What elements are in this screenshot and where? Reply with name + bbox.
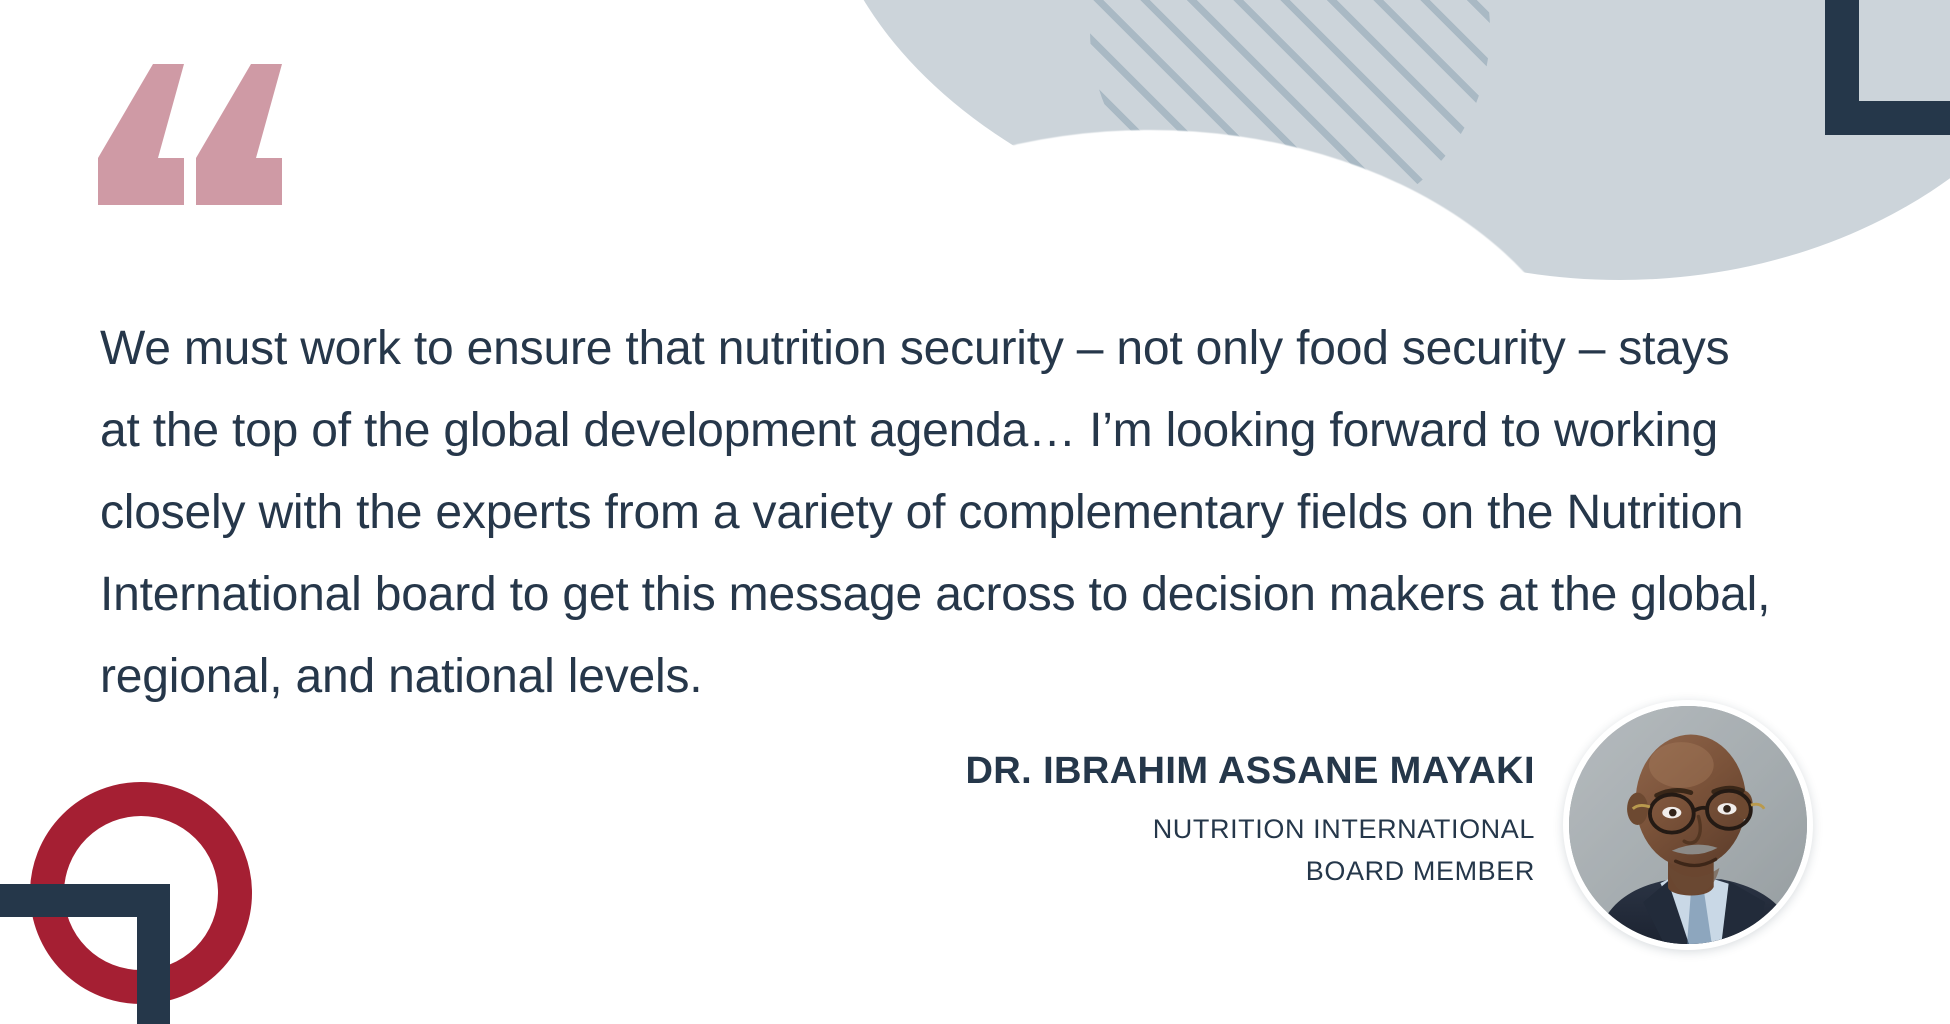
attribution-name: DR. IBRAHIM ASSANE MAYAKI xyxy=(635,748,1535,794)
quote-text: We must work to ensure that nutrition se… xyxy=(100,308,1860,718)
quote-line: at the top of the global development age… xyxy=(100,390,1860,472)
quote-line: We must work to ensure that nutrition se… xyxy=(100,308,1860,390)
quote-line: closely with the experts from a variety … xyxy=(100,472,1860,554)
slide-content: We must work to ensure that nutrition se… xyxy=(0,0,1950,1024)
attribution-organization: NUTRITION INTERNATIONAL xyxy=(635,808,1535,850)
open-quote-icon xyxy=(96,62,286,207)
avatar xyxy=(1563,700,1813,950)
quote-slide: We must work to ensure that nutrition se… xyxy=(0,0,1950,1024)
quote-line: regional, and national levels. xyxy=(100,636,1860,718)
quote-line: International board to get this message … xyxy=(100,554,1860,636)
attribution-block: DR. IBRAHIM ASSANE MAYAKI NUTRITION INTE… xyxy=(635,748,1535,892)
avatar-image xyxy=(1569,706,1807,944)
attribution-role: BOARD MEMBER xyxy=(635,850,1535,892)
